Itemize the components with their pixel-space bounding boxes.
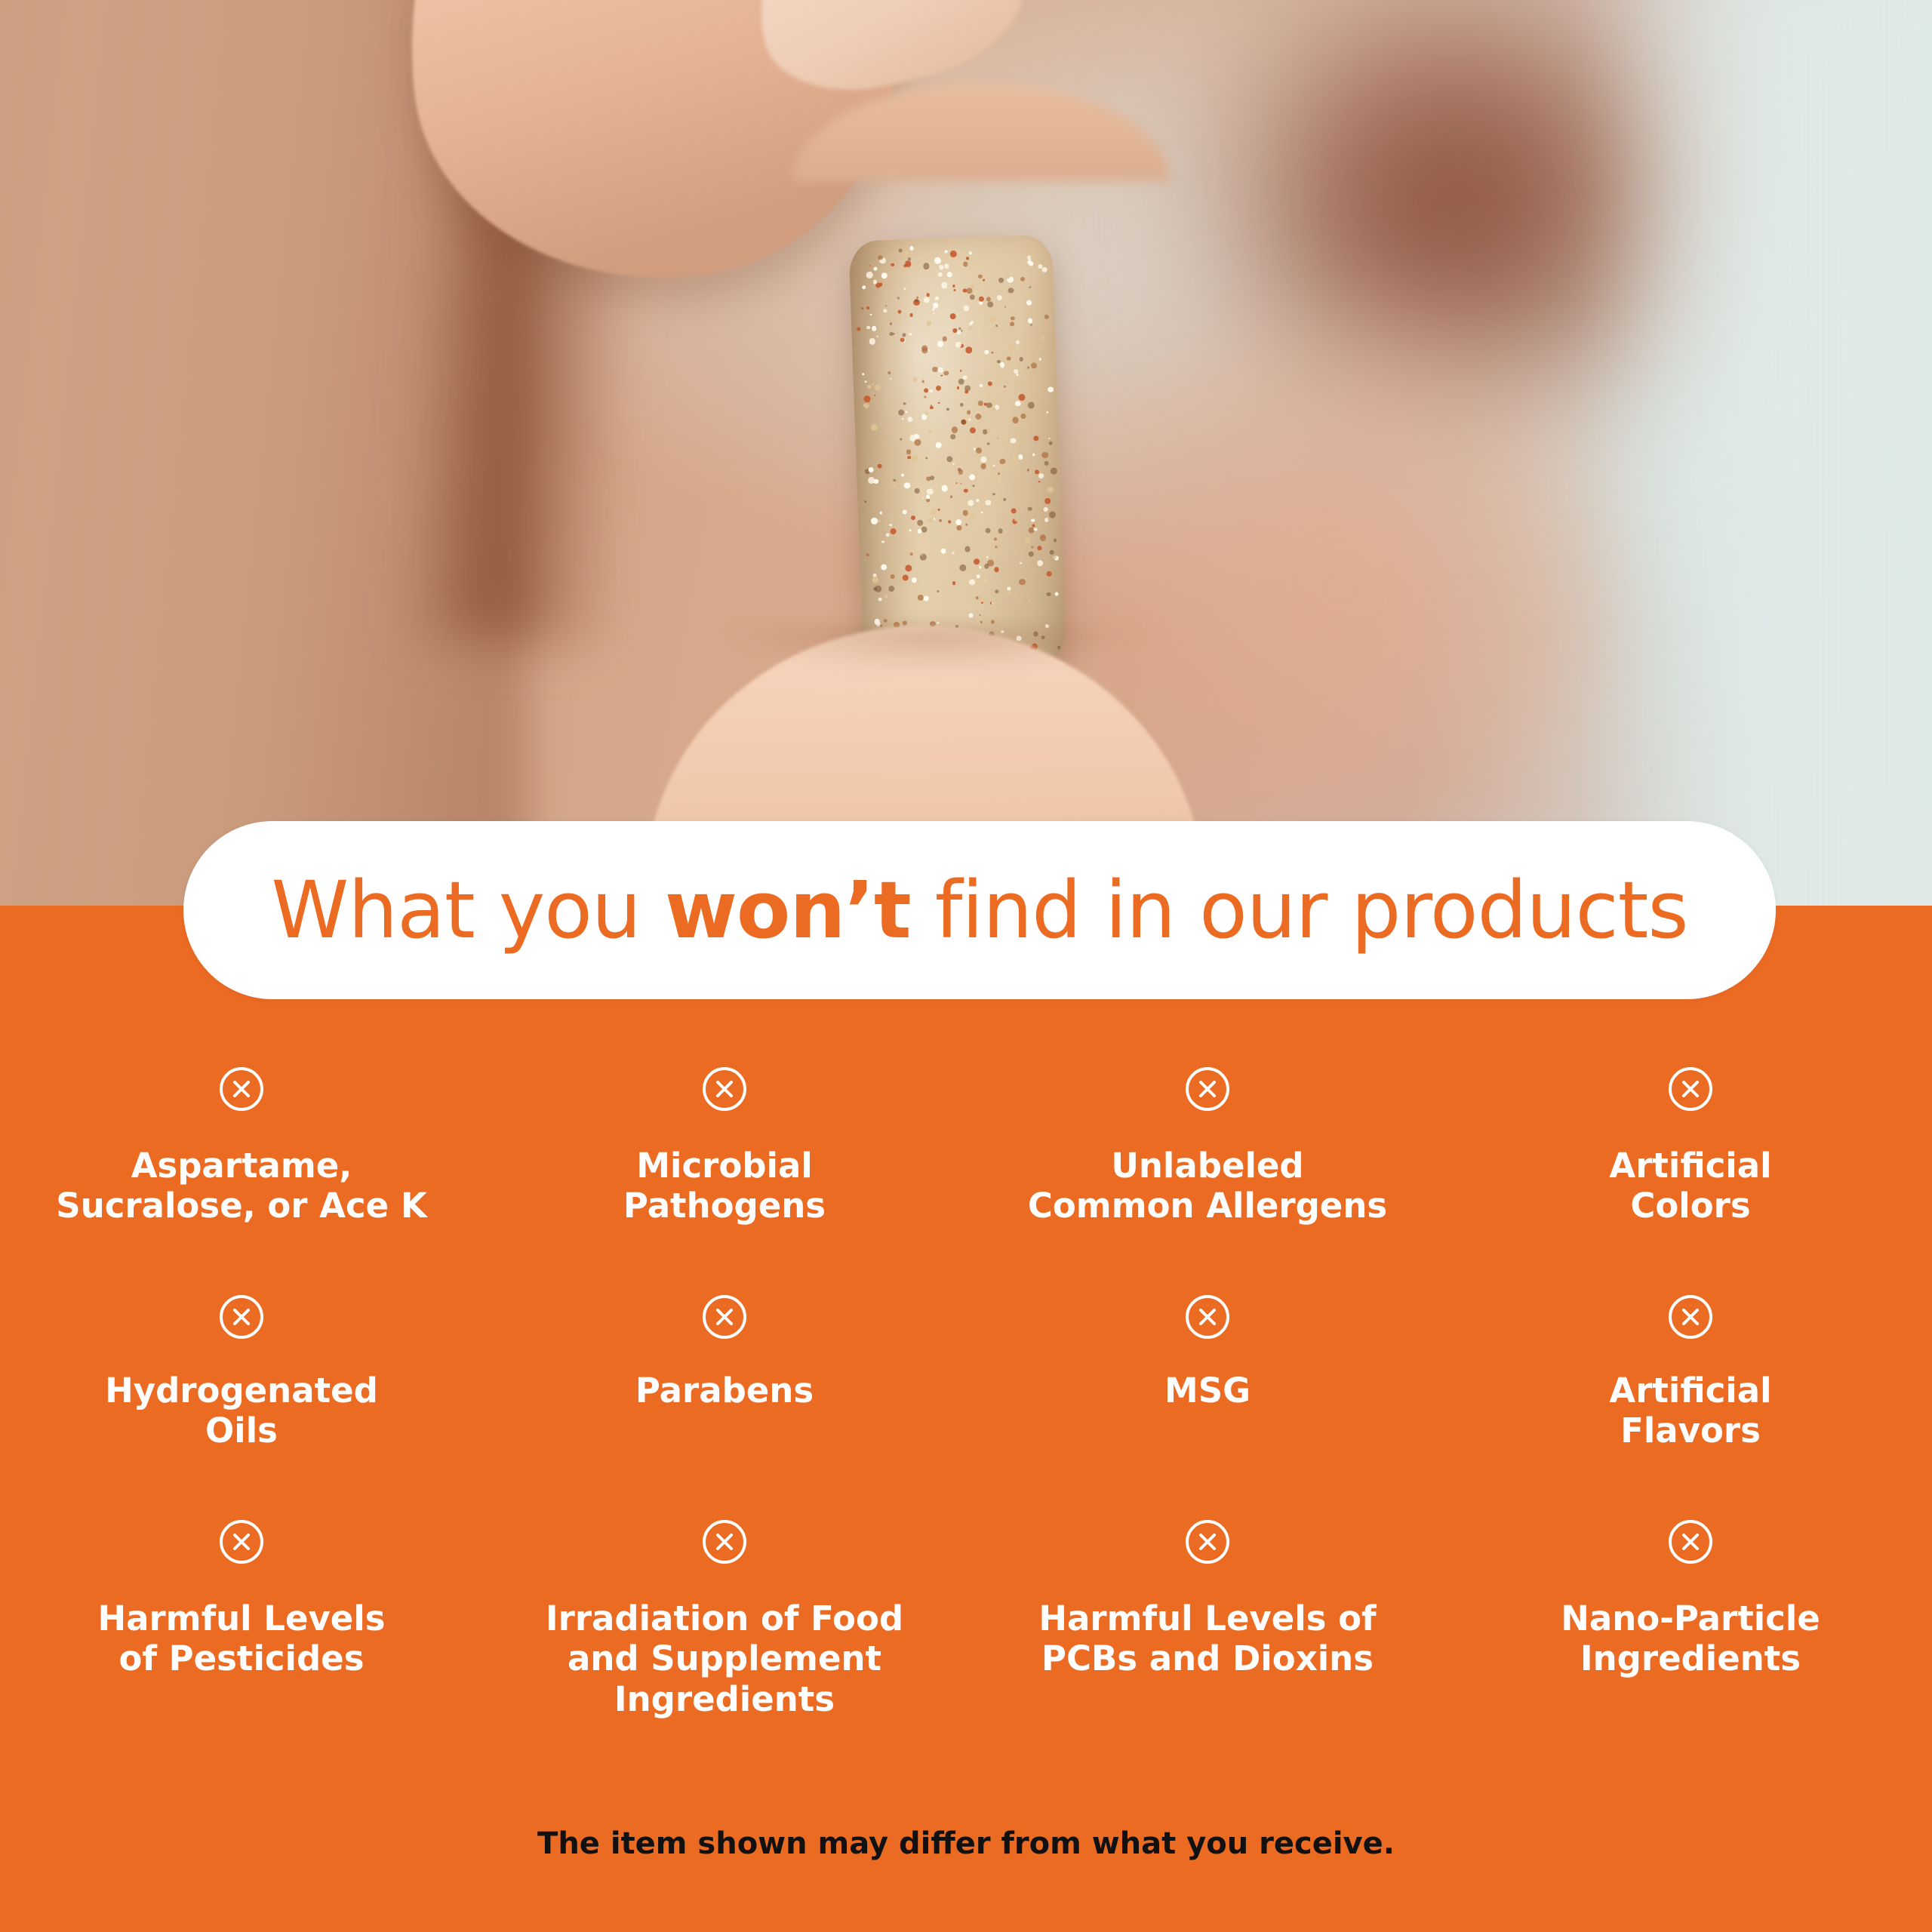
- tablet-speck: [905, 565, 912, 571]
- tablet-speck: [1044, 518, 1049, 522]
- tablet-speck: [963, 261, 968, 266]
- tablet-speck: [867, 385, 871, 389]
- disclaimer-text: The item shown may differ from what you …: [0, 1826, 1932, 1861]
- tablet-speck: [927, 488, 934, 495]
- tablet-speck: [947, 272, 952, 277]
- tablet-speck: [872, 326, 876, 331]
- tablet-speck: [905, 315, 907, 318]
- tablet-speck: [1046, 411, 1048, 414]
- exclusion-label-line: Pathogens: [623, 1186, 826, 1226]
- tablet-speck: [950, 434, 955, 439]
- exclusion-label: Harmful Levelsof Pesticides: [97, 1598, 385, 1678]
- tablet-speck: [913, 377, 918, 382]
- exclusion-label-line: Parabens: [635, 1371, 814, 1411]
- tablet-speck: [996, 533, 1001, 537]
- tablet-speck: [986, 402, 992, 408]
- tablet-speck: [938, 272, 943, 276]
- tablet-speck: [915, 439, 921, 446]
- tablet-speck: [980, 463, 986, 469]
- exclusion-label: Nano-ParticleIngredients: [1561, 1598, 1820, 1678]
- tablet-speck: [921, 554, 922, 555]
- tablet-speck: [972, 485, 974, 487]
- tablet-speck: [928, 349, 931, 352]
- exclusion-label-line: Aspartame,: [56, 1146, 426, 1186]
- tablet-speck: [909, 333, 912, 336]
- tablet-speck: [1029, 286, 1032, 288]
- exclusion-label-line: Oils: [105, 1411, 378, 1451]
- exclusion-label: HydrogenatedOils: [105, 1371, 378, 1451]
- exclusion-item: Harmful Levels ofPCBs and Dioxins: [966, 1518, 1449, 1718]
- tablet-speck: [996, 436, 998, 438]
- tablet-speck: [924, 411, 928, 415]
- circle-x-icon: [218, 1294, 265, 1340]
- tablet-speck: [926, 457, 928, 459]
- tablet-speck: [989, 318, 993, 321]
- tablet-speck: [928, 518, 932, 522]
- tablet-speck: [1028, 600, 1029, 601]
- tablet-speck: [946, 408, 949, 411]
- tablet-speck: [1011, 316, 1015, 321]
- tablet-speck: [995, 325, 998, 327]
- tablet-speck: [967, 410, 971, 414]
- tablet-speck: [873, 266, 877, 270]
- tablet-speck: [969, 579, 976, 586]
- exclusion-item: Aspartame,Sucralose, or Ace K: [0, 1066, 483, 1226]
- tablet-speck: [1008, 345, 1014, 351]
- tablet-speck: [997, 360, 1000, 363]
- tablet-speck: [941, 282, 948, 289]
- tablet-speck: [1048, 386, 1053, 392]
- circle-x-icon: [701, 1518, 748, 1565]
- tablet-speck: [905, 260, 911, 266]
- tablet-speck: [1025, 537, 1031, 543]
- exclusion-label-line: Harmful Levels of: [1038, 1598, 1376, 1638]
- tablet-speck: [998, 278, 1004, 283]
- tablet-speck: [976, 499, 979, 502]
- tablet-speck: [965, 524, 968, 526]
- exclusion-item: UnlabeledCommon Allergens: [966, 1066, 1449, 1226]
- tablet-speck: [950, 313, 956, 319]
- tablet-speck: [983, 279, 985, 281]
- tablet-speck: [961, 330, 962, 331]
- tablet-speck: [1044, 498, 1051, 504]
- tablet-speck: [1026, 300, 1032, 306]
- exclusion-item: Nano-ParticleIngredients: [1449, 1518, 1932, 1718]
- tablet-speck: [1053, 555, 1057, 559]
- tablet-speck: [979, 296, 984, 301]
- tablet-speck: [933, 312, 934, 314]
- tablet-speck: [955, 519, 961, 525]
- tablet-speck: [959, 328, 961, 330]
- tablet-speck: [982, 429, 987, 435]
- tablet-speck: [992, 285, 994, 286]
- tablet-speck: [998, 472, 1000, 475]
- tablet-speck: [1046, 571, 1051, 577]
- tablet-speck: [936, 442, 942, 448]
- tablet-speck: [1038, 546, 1042, 550]
- tablet-speck: [927, 293, 931, 297]
- tablet-speck: [939, 519, 942, 522]
- exclusion-label: Harmful Levels ofPCBs and Dioxins: [1038, 1598, 1376, 1678]
- tablet-speck: [943, 337, 948, 342]
- tablet-speck: [906, 497, 907, 498]
- tablet-speck: [981, 457, 987, 463]
- exclusion-label: MicrobialPathogens: [623, 1146, 826, 1226]
- tablet-speck: [1027, 367, 1029, 369]
- tablet-speck: [977, 574, 980, 578]
- tablet-speck: [1040, 534, 1047, 541]
- exclusion-label-line: MSG: [1164, 1371, 1251, 1411]
- exclusion-label-line: PCBs and Dioxins: [1038, 1638, 1376, 1678]
- tablet-speck: [916, 297, 918, 299]
- tablet-speck: [1038, 481, 1040, 482]
- tablet-speck: [937, 509, 940, 511]
- tablet-speck: [890, 332, 894, 336]
- tablet-speck: [978, 401, 983, 406]
- tablet-speck: [1041, 451, 1048, 458]
- tablet-speck: [959, 402, 964, 407]
- circle-x-icon: [218, 1066, 265, 1112]
- tablet-speck: [1032, 454, 1035, 456]
- exclusion-label-line: Artificial: [1609, 1371, 1771, 1411]
- tablet-speck: [986, 556, 988, 558]
- tablet-speck: [965, 347, 972, 354]
- tablet-speck: [864, 500, 866, 503]
- tablet-speck: [1007, 356, 1011, 361]
- exclusion-label-line: Harmful Levels: [97, 1598, 385, 1638]
- exclusion-label-line: Ingredients: [1561, 1638, 1820, 1678]
- tablet-speck: [992, 408, 996, 412]
- tablet-speck: [969, 419, 971, 421]
- tablet-speck: [970, 513, 975, 518]
- product-photo: [0, 0, 1932, 909]
- tablet-speck: [1007, 590, 1012, 595]
- exclusion-label: ArtificialFlavors: [1609, 1371, 1771, 1451]
- tablet-speck: [1012, 458, 1018, 464]
- tablet-speck: [871, 518, 878, 525]
- tablet-speck: [1051, 467, 1057, 474]
- tablet-speck: [909, 529, 911, 531]
- tablet-speck: [1031, 362, 1037, 368]
- tablet-speck: [934, 297, 938, 300]
- tablet-speck: [1048, 437, 1050, 438]
- exclusion-label: Parabens: [635, 1371, 814, 1411]
- tablet-speck: [937, 590, 939, 592]
- tablet-speck: [924, 388, 929, 393]
- tablet-speck: [1049, 511, 1056, 518]
- tablet-speck: [937, 622, 940, 625]
- tablet-speck: [881, 272, 888, 278]
- tablet-speck: [1044, 314, 1049, 319]
- tablet-speck: [909, 552, 912, 555]
- tablet-speck: [994, 537, 997, 540]
- tablet-speck: [923, 263, 930, 269]
- tablet-speck: [969, 474, 975, 480]
- exclusion-item: ArtificialColors: [1449, 1066, 1932, 1226]
- tablet-speck: [987, 381, 992, 386]
- tablet-speck: [938, 401, 940, 404]
- tablet-speck: [933, 303, 939, 309]
- title-part-1: What you: [271, 864, 664, 956]
- tablet-speck: [1006, 274, 1011, 278]
- tablet-speck: [1015, 401, 1021, 407]
- tablet-speck: [1055, 592, 1059, 595]
- tablet-speck: [932, 308, 934, 310]
- tablet-speck: [1014, 517, 1019, 521]
- tablet-speck: [857, 327, 860, 331]
- tablet-speck: [937, 367, 943, 373]
- exclusion-label: Aspartame,Sucralose, or Ace K: [56, 1146, 426, 1226]
- tablet-speck: [984, 350, 989, 355]
- tablet-speck: [974, 558, 980, 565]
- tablet-speck: [873, 587, 877, 591]
- tablet-speck: [992, 493, 995, 496]
- tablet-speck: [946, 456, 953, 463]
- exclusion-label-line: Colors: [1609, 1186, 1771, 1226]
- exclusion-item: Parabens: [483, 1294, 966, 1451]
- exclusion-label-line: and Supplement: [546, 1638, 903, 1678]
- tablet-speck: [971, 285, 975, 288]
- tablet-speck: [926, 321, 931, 326]
- tablet-speck: [992, 352, 994, 354]
- page-title: What you won’t find in our products: [271, 871, 1687, 949]
- tablet-speck: [999, 459, 1005, 465]
- tablet-speck: [1032, 518, 1035, 521]
- tablet-speck: [968, 326, 973, 331]
- tablet-speck: [884, 619, 887, 622]
- circle-x-icon: [1184, 1066, 1231, 1112]
- tablet-speck: [1033, 528, 1037, 531]
- tablet-speck: [939, 265, 944, 270]
- tablet-speck: [926, 498, 930, 502]
- tablet-speck: [992, 602, 994, 605]
- tablet-speck: [952, 463, 955, 465]
- tablet-speck: [958, 379, 964, 385]
- tablet-speck: [969, 294, 975, 300]
- tablet-speck: [908, 257, 910, 260]
- tablet-speck: [934, 257, 941, 264]
- tablet-speck: [980, 621, 983, 623]
- tablet-speck: [1004, 386, 1006, 388]
- tablet-speck: [1010, 438, 1016, 444]
- circle-x-icon: [1184, 1294, 1231, 1340]
- tablet-speck: [1020, 277, 1026, 282]
- tablet-speck: [866, 326, 869, 329]
- tablet-speck: [986, 500, 992, 506]
- tablet-speck: [963, 305, 969, 311]
- tablet-speck: [1031, 546, 1033, 549]
- exclusion-label-line: Artificial: [1609, 1146, 1771, 1186]
- tablet-speck: [956, 525, 961, 531]
- tablet-speck: [909, 246, 913, 250]
- tablet-speck: [903, 621, 906, 625]
- title-emphasis: won’t: [665, 864, 911, 956]
- exclusion-item: Irradiation of Foodand SupplementIngredi…: [483, 1518, 966, 1718]
- tablet-speck: [953, 328, 958, 333]
- tablet-speck: [1054, 539, 1057, 543]
- exclusion-label-line: Unlabeled: [1028, 1146, 1387, 1186]
- exclusion-label-line: Common Allergens: [1028, 1186, 1387, 1226]
- index-finger-shadow: [649, 626, 1223, 687]
- tablet-speck: [1019, 579, 1026, 586]
- tablet-speck: [934, 518, 935, 519]
- tablet-speck: [924, 396, 926, 398]
- tablet-speck: [1044, 507, 1048, 512]
- tablet-speck: [918, 529, 922, 534]
- tablet-speck: [878, 255, 882, 260]
- tablet-speck: [884, 309, 888, 313]
- tablet-speck: [926, 495, 930, 499]
- title-banner: What you won’t find in our products: [183, 821, 1776, 999]
- tablet-speck: [1041, 267, 1047, 272]
- tablet-speck: [1033, 435, 1038, 441]
- exclusion-label: Irradiation of Foodand SupplementIngredi…: [546, 1598, 903, 1718]
- tablet-speck: [1044, 461, 1049, 466]
- tablet-speck: [969, 613, 974, 617]
- tablet-speck: [924, 596, 929, 601]
- tablet-speck: [941, 375, 943, 377]
- tablet-speck: [869, 265, 870, 266]
- tablet-speck: [1027, 318, 1032, 324]
- tablet-speck: [898, 409, 904, 415]
- tablet-speck: [952, 285, 955, 288]
- tablet-speck: [992, 464, 995, 466]
- tablet-speck: [897, 318, 901, 323]
- tablet-speck: [863, 395, 870, 402]
- tablet-speck: [960, 370, 962, 372]
- tablet-speck: [891, 263, 894, 266]
- tablet-speck: [1038, 473, 1044, 478]
- blurred-wall: [1600, 0, 1932, 909]
- tablet-speck: [1011, 508, 1017, 514]
- tablet-speck: [921, 347, 928, 353]
- tablet-speck: [921, 380, 924, 383]
- tablet-speck: [1050, 550, 1054, 555]
- exclusion-label: UnlabeledCommon Allergens: [1028, 1146, 1387, 1226]
- tablet-speck: [900, 473, 903, 476]
- tablet-speck: [964, 546, 971, 552]
- tablet-speck: [866, 272, 873, 278]
- tablet-speck: [930, 406, 934, 410]
- exclusion-item: MSG: [966, 1294, 1449, 1451]
- exclusion-label: ArtificialColors: [1609, 1146, 1771, 1226]
- exclusion-label-line: Hydrogenated: [105, 1371, 378, 1411]
- tablet-speck: [953, 289, 955, 291]
- tablet-speck: [881, 444, 884, 446]
- exclusion-label-line: Ingredients: [546, 1679, 903, 1719]
- tablet-speck: [1028, 401, 1035, 408]
- exclusion-label: MSG: [1164, 1371, 1251, 1411]
- tablet-speck: [963, 375, 967, 379]
- exclusion-label-line: Microbial: [623, 1146, 826, 1186]
- tablet-speck: [922, 497, 924, 499]
- tablet-speck: [952, 426, 958, 432]
- tablet-speck: [995, 546, 997, 548]
- exclusion-label-line: Nano-Particle: [1561, 1598, 1820, 1638]
- tablet-speck: [987, 442, 990, 445]
- tablet-speck: [1038, 358, 1041, 361]
- tablet-speck: [975, 414, 981, 420]
- tablet-speck: [884, 594, 888, 598]
- tablet-speck: [950, 496, 952, 498]
- tablet-speck: [955, 482, 957, 484]
- tablet-speck: [978, 275, 982, 278]
- circle-x-icon: [1667, 1518, 1714, 1565]
- tablet-speck: [962, 509, 968, 515]
- tablet-speck: [995, 589, 999, 593]
- circle-x-icon: [1667, 1294, 1714, 1340]
- tablet-speck: [930, 475, 935, 481]
- circle-x-icon: [1184, 1518, 1231, 1565]
- exclusions-grid: Aspartame,Sucralose, or Ace KMicrobialPa…: [0, 1066, 1932, 1719]
- tablet-speck: [1049, 441, 1054, 445]
- tablet-speck: [944, 250, 947, 253]
- supplement-tablet: [848, 234, 1067, 671]
- tablet-speck: [862, 374, 864, 376]
- tablet-speck: [944, 263, 949, 269]
- tablet-speck: [1016, 341, 1020, 345]
- exclusion-label-line: Irradiation of Food: [546, 1598, 903, 1638]
- tablet-speck: [1037, 560, 1043, 566]
- tablet-speck: [924, 297, 930, 303]
- exclusion-item: HydrogenatedOils: [0, 1294, 483, 1451]
- tablet-speck: [1020, 562, 1023, 565]
- tablet-speck: [1030, 255, 1035, 260]
- tablet-speck: [979, 596, 985, 602]
- tablet-speck: [930, 389, 933, 392]
- circle-x-icon: [701, 1066, 748, 1112]
- tablet-speck: [969, 322, 972, 325]
- tablet-speck: [968, 500, 974, 506]
- tablet-speck: [952, 552, 955, 554]
- tablet-speck: [907, 456, 911, 460]
- tablet-speck: [980, 384, 983, 387]
- tablet-speck: [979, 566, 981, 568]
- tablet-speck: [940, 548, 946, 553]
- tablet-speck: [912, 577, 917, 583]
- tablet-speck: [1020, 414, 1026, 419]
- tablet-speck: [952, 582, 956, 586]
- tablet-speck: [937, 341, 943, 347]
- tablet-speck: [877, 335, 878, 337]
- tablet-speck: [904, 288, 906, 290]
- tablet-speck: [1017, 374, 1019, 376]
- tablet-speck: [961, 483, 962, 485]
- tablet-speck: [1012, 417, 1019, 424]
- tablet-speck: [977, 438, 979, 441]
- exclusion-label-line: of Pesticides: [97, 1638, 385, 1678]
- tablet-speck: [888, 586, 894, 592]
- tablet-speck: [931, 509, 937, 515]
- exclusion-item: Harmful Levelsof Pesticides: [0, 1518, 483, 1718]
- circle-x-icon: [701, 1294, 748, 1340]
- tablet-speck: [890, 378, 891, 380]
- tablet-speck: [921, 527, 928, 533]
- tablet-speck: [1028, 506, 1032, 511]
- tablet-speck: [904, 427, 909, 432]
- tablet-speck: [981, 511, 983, 513]
- tablet-speck: [1026, 469, 1029, 472]
- tablet-speck: [1010, 322, 1014, 327]
- tablet-speck: [976, 448, 982, 454]
- tablet-speck: [928, 429, 931, 432]
- exclusion-label-line: Flavors: [1609, 1411, 1771, 1451]
- tablet-speck: [1008, 288, 1014, 294]
- tablet-speck: [991, 620, 995, 623]
- tablet-speck: [1019, 394, 1026, 401]
- exclusion-item: MicrobialPathogens: [483, 1066, 966, 1226]
- tablet-speck: [1001, 365, 1004, 368]
